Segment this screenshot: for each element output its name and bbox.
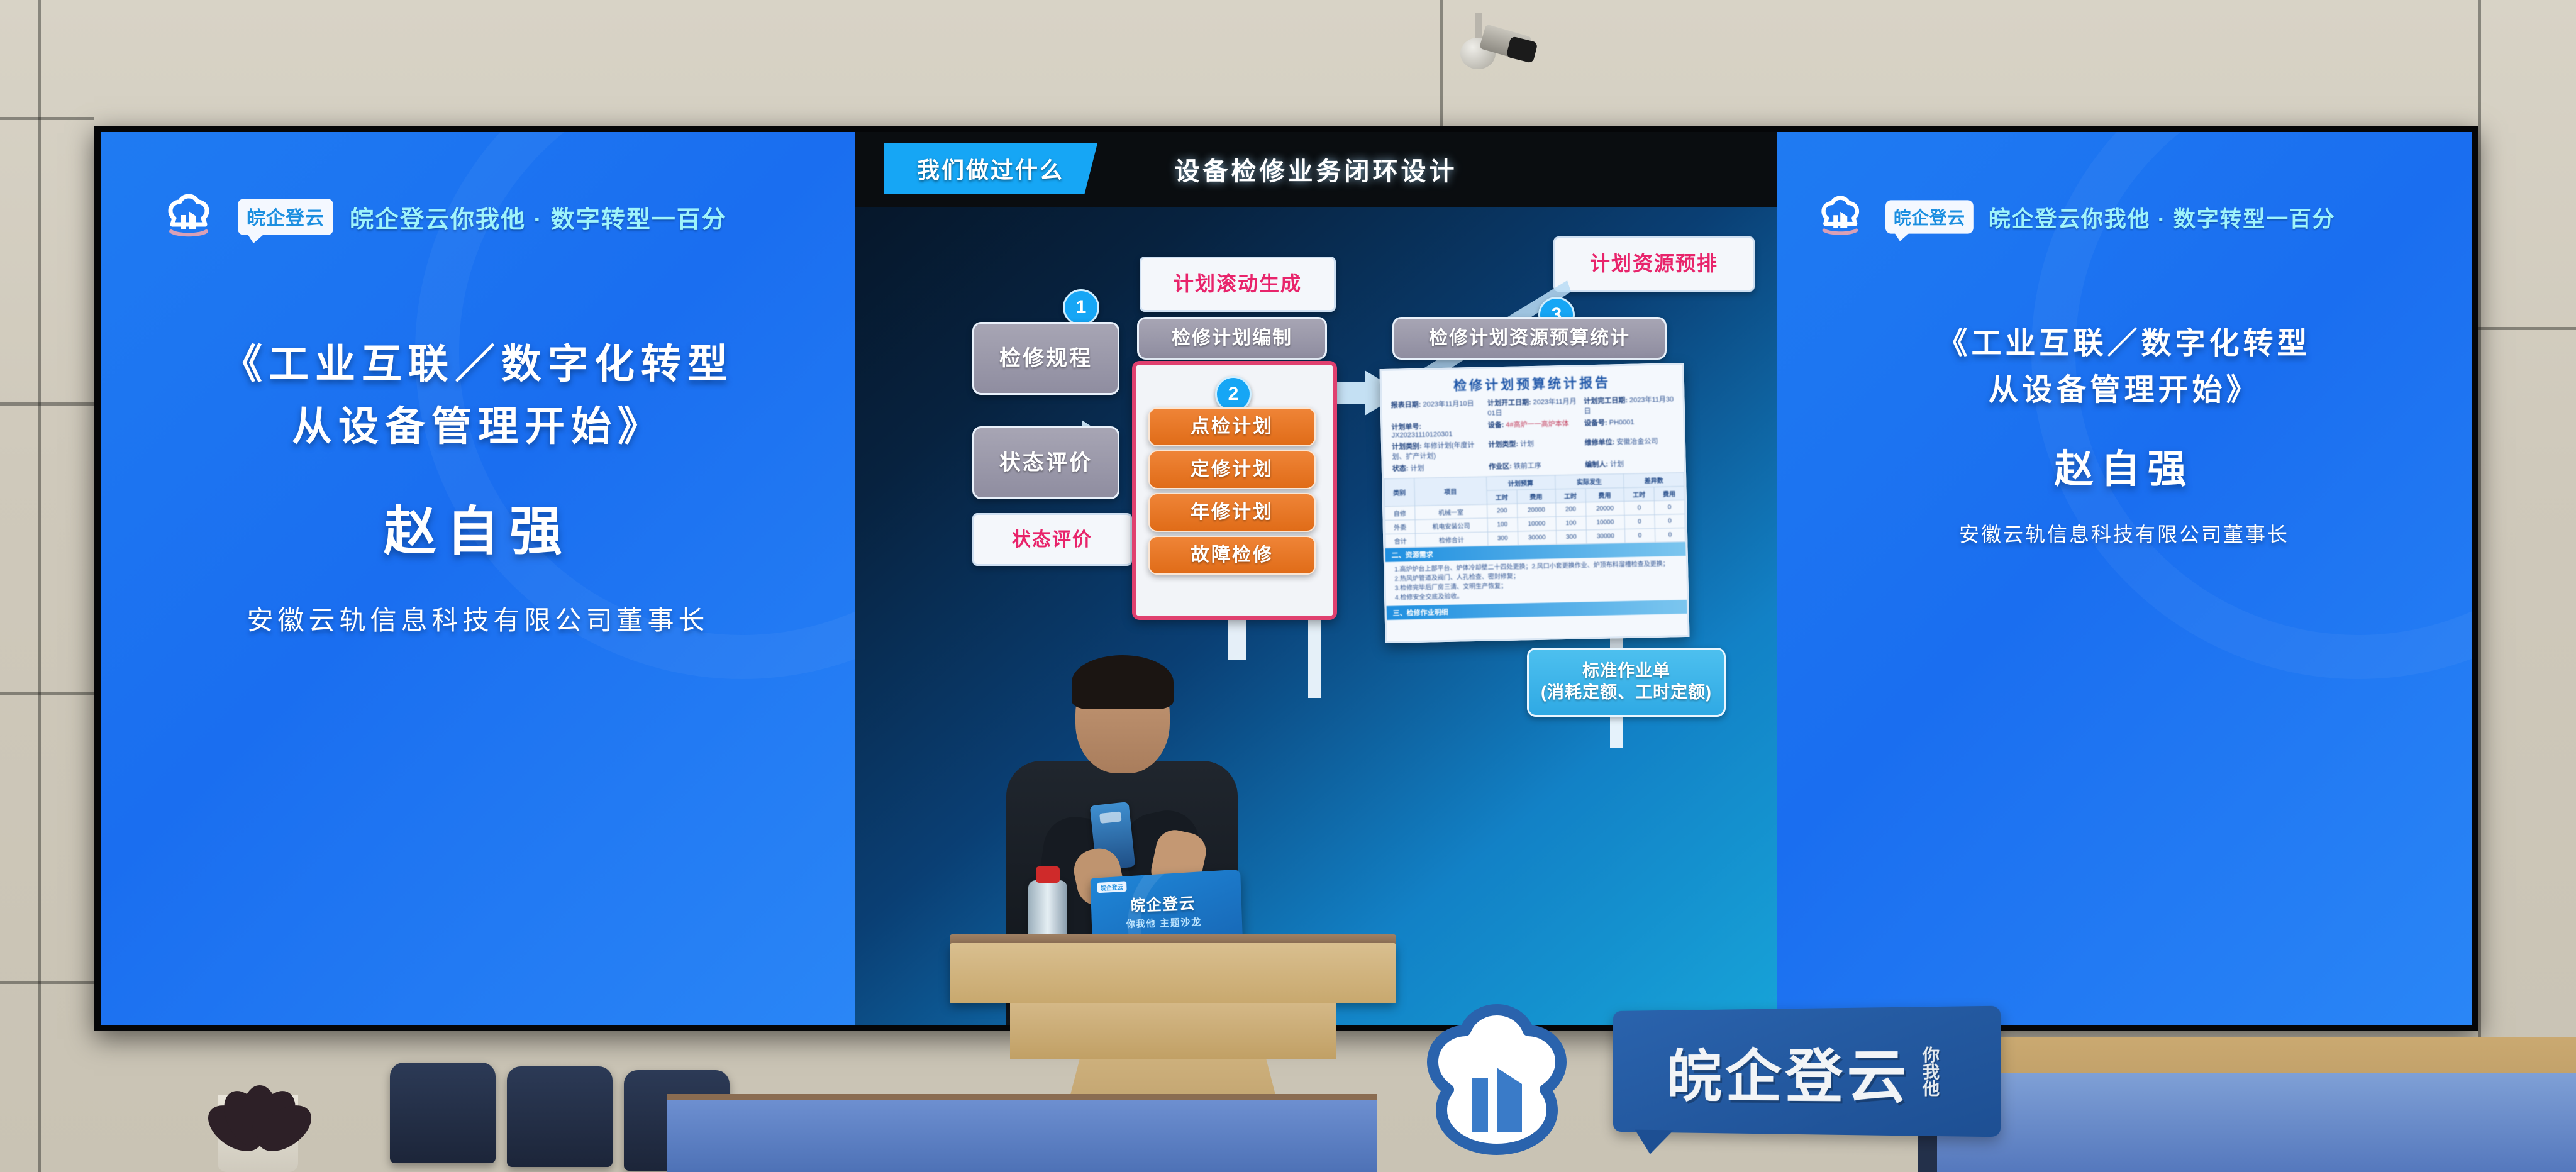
report-meta-item: 计划类别: 年修计划(年度计划、扩产计划) [1392,440,1482,462]
node-plan-type-inspection[interactable]: 点检计划 [1148,407,1316,446]
led-video-wall: 皖企登云 皖企登云你我他 · 数字转型一百分 《工业互联／数字化转型 从设备管理… [94,126,2478,1031]
report-meta-item: 设备号: PH0001 [1584,416,1675,435]
node-plan-type-breakdown[interactable]: 故障检修 [1148,536,1316,575]
podium-sign-chip: 皖企登云 [1097,881,1126,893]
node-plan-type-annual[interactable]: 年修计划 [1148,493,1316,532]
podium-sign-title: 皖企登云 [1091,888,1241,917]
report-cell: 检修合计 [1416,532,1488,547]
wall-tile-seam [0,402,94,406]
report-sub-header: 工时 [1555,489,1586,503]
title-line-1-right: 《工业互联／数字化转型 [1777,321,2472,367]
report-meta-item: 计划单号: JX20231110120301 [1391,420,1482,440]
report-sub-header: 工时 [1624,487,1655,502]
report-group-header: 差异数 [1623,473,1684,488]
report-sub-header: 费用 [1517,489,1555,504]
report-meta-item: 报表日期: 2023年11月10日 [1391,398,1482,420]
speaker-name-right: 赵自强 [1777,437,2472,494]
title-line-2-right: 从设备管理开始》 [1777,367,2472,414]
report-sub-header: 费用 [1585,488,1624,502]
report-cell: 合计 [1385,533,1416,548]
wall-tile-seam [2478,327,2576,330]
report-col-header: 类别 [1384,478,1415,506]
node-standard-work-sheet[interactable]: 标准作业单 (消耗定额、工时定额) [1527,648,1726,717]
cloud-logo-icon [156,192,221,241]
brand-bar-right: 皖企登云 皖企登云你我他 · 数字转型一百分 [1777,194,2416,240]
node-inspection-procedure[interactable]: 检修规程 [972,322,1119,395]
report-cell: 200 [1487,504,1518,518]
speaker-name: 赵自强 [101,489,855,565]
speaker-org: 安徽云轨信息科技有限公司董事长 [101,599,855,638]
report-cell: 0 [1624,515,1655,529]
report-cell: 200 [1555,502,1586,517]
slide-title: 设备检修业务闭环设计 [855,151,1777,187]
stage-floor-logo: 皖企登云 你我他 [1402,987,2094,1172]
report-col-header: 项目 [1414,477,1487,506]
wall-tile-seam [1440,0,1443,126]
callout-resource-pre-scheduling: 计划资源预排 [1553,236,1755,292]
wall-tile-seam [38,0,41,1172]
wall-tile-seam [0,117,94,120]
right-title-panel: 皖企登云 皖企登云你我他 · 数字转型一百分 《工业互联／数字化转型 从设备管理… [1777,132,2472,1025]
led-screen-surface: 皖企登云 皖企登云你我他 · 数字转型一百分 《工业互联／数字化转型 从设备管理… [101,132,2472,1025]
report-meta-item: 作业区: 铁前工序 [1489,460,1579,472]
speaker-org-right: 安徽云轨信息科技有限公司董事长 [1777,519,2472,548]
report-screenshot: 检修计划预算统计报告 报表日期: 2023年11月10日计划开工日期: 2023… [1379,363,1689,643]
report-cell: 100 [1487,517,1518,532]
brand-chip-label: 皖企登云 [247,202,325,230]
report-cell: 机械一室 [1415,504,1487,519]
brand-chip-right: 皖企登云 [1885,200,1974,233]
title-line-1: 《工业互联／数字化转型 [101,333,855,395]
report-group-header: 实际发生 [1555,474,1624,489]
report-table-body: 自修机械一室200200002002000000外委机电安装公司10010000… [1385,500,1685,548]
floor-logo-main: 皖企登云 [1667,1029,1910,1114]
report-table: 类别项目计划预算实际发生差异数工时费用工时费用工时费用 自修机械一室200200… [1384,472,1685,548]
callout-rolling-plan-generation: 计划滚动生成 [1140,257,1336,312]
cloud-logo-icon [1810,194,1870,240]
report-cell: 0 [1624,529,1655,543]
report-meta-item: 计划开工日期: 2023年11月月01日 [1487,396,1578,418]
title-line-2: 从设备管理开始》 [101,395,855,458]
report-cell: 10000 [1586,516,1624,530]
brand-chip-label-right: 皖企登云 [1894,204,1965,229]
report-cell: 100 [1556,516,1587,531]
report-cell: 10000 [1518,517,1556,531]
floor-logo-plate: 皖企登云 你我他 [1613,1006,2001,1137]
brand-slogan-right: 皖企登云你我他 · 数字转型一百分 [1989,201,2336,233]
right-panel-title-block: 《工业互联／数字化转型 从设备管理开始》 赵自强 安徽云轨信息科技有限公司董事长 [1777,321,2472,548]
report-meta-item: 编制人: 计划 [1585,457,1675,469]
report-cell: 20000 [1585,502,1624,516]
node-status-evaluation[interactable]: 状态评价 [972,426,1119,499]
report-meta-grid: 报表日期: 2023年11月10日计划开工日期: 2023年11月月01日计划完… [1382,394,1685,478]
report-sub-header: 工时 [1487,490,1518,504]
node-plan-preparation-header[interactable]: 检修计划编制 [1137,317,1327,360]
report-cell: 0 [1655,514,1685,529]
report-sub-header: 费用 [1654,487,1685,501]
standard-sheet-line-1: 标准作业单 [1582,661,1670,682]
report-notes: 1.高炉炉台上部平台、炉体冷却壁二十四处更换；2.风口小套更换作业、炉顶布料溜槽… [1385,556,1687,606]
report-cell: 20000 [1517,503,1555,517]
callout-status-evaluation: 状态评价 [972,513,1132,566]
report-cell: 自修 [1385,506,1416,520]
report-cell: 外委 [1385,519,1416,534]
node-plan-type-scheduled[interactable]: 定修计划 [1148,450,1316,489]
cloud-logo-icon [1402,1000,1591,1169]
report-cell: 0 [1655,528,1685,542]
front-desk-left [667,1094,1377,1172]
report-meta-item: 状态: 计划 [1392,462,1483,473]
report-meta-item: 计划类型: 计划 [1488,438,1579,460]
security-camera-icon [1446,13,1522,82]
brand-chip: 皖企登云 [238,199,333,235]
report-cell: 300 [1487,531,1518,546]
node-budget-statistics-header[interactable]: 检修计划资源预算统计 [1392,317,1667,360]
report-meta-item: 设备: 4#高炉一一高炉本体 [1488,418,1579,438]
report-meta-item: 计划完工日期: 2023年11月30日 [1584,394,1674,416]
brand-bar: 皖企登云 皖企登云你我他 · 数字转型一百分 [101,192,855,241]
standard-sheet-line-2: (消耗定额、工时定额) [1541,682,1712,704]
report-cell: 0 [1624,501,1655,516]
conference-room-scene: 皖企登云 皖企登云你我他 · 数字转型一百分 《工业互联／数字化转型 从设备管理… [0,0,2576,1172]
report-cell: 0 [1654,500,1685,515]
step-badge-1: 1 [1063,289,1099,326]
left-panel-title-block: 《工业互联／数字化转型 从设备管理开始》 赵自强 安徽云轨信息科技有限公司董事长 [101,333,855,638]
report-meta-item: 维修单位: 安徽冶金公司 [1584,435,1675,457]
report-group-header: 计划预算 [1486,475,1555,490]
report-cell: 300 [1556,530,1587,545]
report-cell: 30000 [1586,529,1624,544]
brand-slogan: 皖企登云你我他 · 数字转型一百分 [350,200,727,235]
left-title-panel: 皖企登云 皖企登云你我他 · 数字转型一百分 《工业互联／数字化转型 从设备管理… [101,132,855,1025]
report-cell: 30000 [1518,531,1556,545]
wall-tile-seam [2478,0,2481,1172]
floor-logo-small: 你我他 [1921,1046,1939,1097]
wall-tile-seam [0,692,94,695]
report-cell: 机电安装公司 [1415,518,1487,533]
potted-plant [189,1019,327,1172]
